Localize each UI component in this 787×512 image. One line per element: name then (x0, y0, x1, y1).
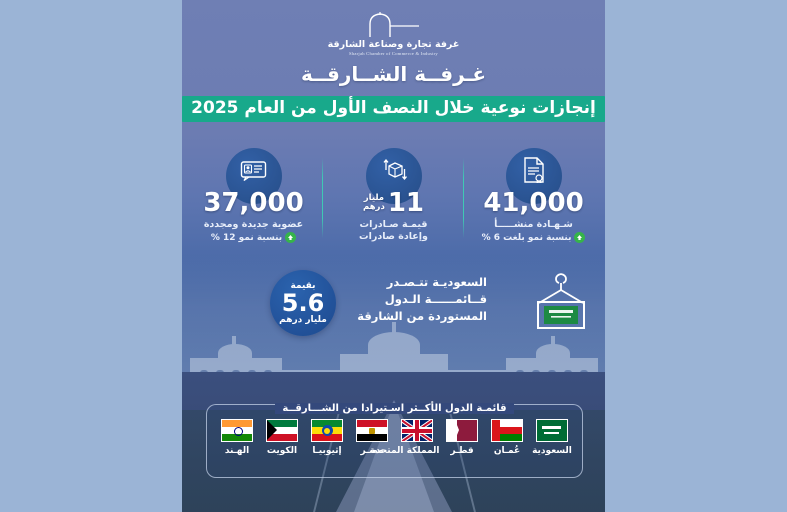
stat-growth-memberships: بنسبة نمو 12 % (188, 232, 319, 243)
stat-caption-memberships: عضوية جديدة ومجددة (188, 219, 319, 231)
stat-growth-certificates: بنسبة نمو بلغت 6 % (468, 232, 599, 243)
country-label: إثيوبيـا (305, 446, 350, 456)
flag-saudi-icon (536, 419, 568, 442)
flags-card-title: قائمـة الدول الأكــثر اسـتيرادا من الشــ… (275, 403, 513, 414)
export-box-arrows-icon (328, 152, 459, 188)
stat-value-certificates: 41,000 (468, 190, 599, 216)
country-label: الهـند (215, 446, 260, 456)
country-item-saudi-arabia[interactable]: السعودية (530, 419, 575, 456)
flag-egypt-icon (356, 419, 388, 442)
flag-uk-icon (401, 419, 433, 442)
saudi-text-line2: قــائمــــــة الـدول (357, 291, 487, 308)
sharjah-chamber-logo: غرفة تجارة وصناعة الشارقة Sharjah Chambe… (321, 12, 467, 56)
stat-card-exports: 11 مليار درهم قيمـة صـادرات وإعادة صادرا… (328, 148, 459, 243)
saudi-circle-value: 5.6 (282, 291, 325, 315)
flag-ethiopia-icon (311, 419, 343, 442)
stat-value-exports-row: 11 مليار درهم (328, 190, 459, 216)
stat-divider-1 (322, 158, 323, 238)
arrow-up-icon (285, 232, 296, 243)
certificate-document-icon (468, 152, 599, 188)
membership-card-icon (188, 152, 319, 188)
infographic-poster: غرفة تجارة وصناعة الشارقة Sharjah Chambe… (182, 0, 605, 512)
stat-value-exports: 11 (388, 190, 424, 216)
arrow-up-icon (574, 232, 585, 243)
country-label: قطـر (440, 446, 485, 456)
country-label: الكويت (260, 446, 305, 456)
stat-caption-certificates: شـهـادة منشـــــأ (468, 219, 599, 231)
stat-card-memberships: 37,000 عضوية جديدة ومجددة بنسبة نمو 12 % (188, 148, 319, 243)
infographic-canvas: غرفة تجارة وصناعة الشارقة Sharjah Chambe… (0, 0, 787, 512)
country-item-qatar[interactable]: قطـر (440, 419, 485, 456)
saudi-highlight-text: السعوديـة تتـصـدر قــائمــــــة الـدول ا… (357, 274, 487, 325)
logo-arabic-text: غرفة تجارة وصناعة الشارقة (321, 39, 467, 50)
saudi-circle-unit: مليار درهم (279, 315, 327, 325)
country-label: المملكة المتحدة (395, 446, 440, 456)
poster-title-line2: إنجازات نوعية خلال النصف الأول من العام … (182, 96, 605, 122)
flag-qatar-icon (446, 419, 478, 442)
arch-dome-logo-icon (321, 12, 467, 38)
stat-value-memberships: 37,000 (188, 190, 319, 216)
stat-unit-exports: مليار درهم (363, 194, 385, 212)
saudi-highlight-row: بقيمة 5.6 مليار درهم السعوديـة تتـصـدر ق… (182, 268, 605, 344)
poster-title-line1: غـرفــة الشــارقــة (182, 62, 605, 86)
flag-india-icon (221, 419, 253, 442)
stat-growth-text: بنسبة نمو بلغت 6 % (482, 233, 572, 243)
stat-unit-line2: درهم (363, 203, 385, 212)
stat-growth-text: بنسبة نمو 12 % (211, 233, 282, 243)
saudi-text-line1: السعوديـة تتـصـدر (357, 274, 487, 291)
country-item-united-kingdom[interactable]: المملكة المتحدة (395, 419, 440, 456)
country-label: السعودية (530, 446, 575, 456)
flags-row: الهـند الكويت (207, 419, 582, 473)
flags-card-title-wrap: قائمـة الدول الأكــثر اسـتيرادا من الشــ… (207, 396, 582, 415)
country-label: عُمـان (485, 446, 530, 456)
stat-card-certificates: 41,000 شـهـادة منشـــــأ بنسبة نمو بلغت … (468, 148, 599, 243)
saudi-value-circle: بقيمة 5.6 مليار درهم (270, 270, 336, 336)
country-item-oman[interactable]: عُمـان (485, 419, 530, 456)
flag-kuwait-icon (266, 419, 298, 442)
country-item-kuwait[interactable]: الكويت (260, 419, 305, 456)
logo-english-text: Sharjah Chamber of Commerce & Industry (321, 51, 467, 56)
poster-title-line2-wrap: إنجازات نوعية خلال النصف الأول من العام … (182, 96, 605, 122)
country-item-india[interactable]: الهـند (215, 419, 260, 456)
shipping-container-saudi-flag-icon (529, 272, 593, 336)
country-label: مصـر (350, 446, 395, 456)
stat-caption-exports: قيمـة صـادرات (328, 219, 459, 231)
country-item-egypt[interactable]: مصـر (350, 419, 395, 456)
flag-oman-icon (491, 419, 523, 442)
stat-divider-2 (463, 158, 464, 238)
saudi-text-line3: المستوردة من الشارقة (357, 308, 487, 325)
key-statistics-row: 41,000 شـهـادة منشـــــأ بنسبة نمو بلغت … (182, 148, 605, 248)
importing-countries-card: قائمـة الدول الأكــثر اسـتيرادا من الشــ… (206, 404, 583, 478)
country-item-ethiopia[interactable]: إثيوبيـا (305, 419, 350, 456)
stat-caption2-exports: وإعادة صادرات (328, 231, 459, 243)
